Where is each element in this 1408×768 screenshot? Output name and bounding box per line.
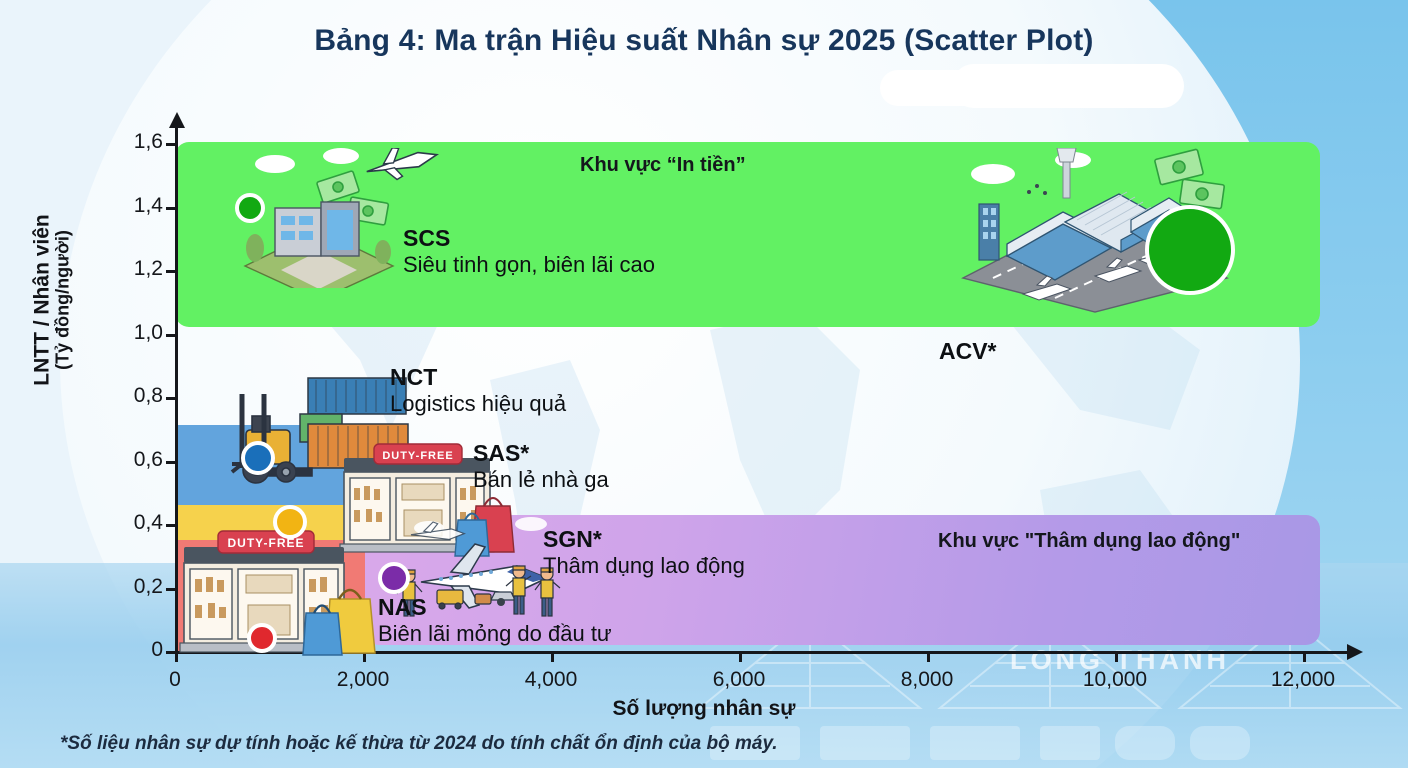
y-tick-label-0: 0	[93, 638, 163, 662]
x-tick-label-6: 12,000	[1243, 668, 1363, 692]
data-point-nct[interactable]	[241, 441, 275, 475]
y-tick-5	[166, 334, 177, 337]
svg-text:DUTY-FREE: DUTY-FREE	[382, 450, 453, 462]
y-axis-title-sub: (Tỷ đồng/người)	[54, 214, 74, 386]
y-tick-label-5: 1,0	[93, 321, 163, 345]
x-tick-6	[1303, 651, 1306, 662]
x-tick-4	[927, 651, 930, 662]
annotation-scs-code: SCS	[403, 226, 655, 252]
y-tick-label-1: 0,2	[93, 575, 163, 599]
data-point-acv[interactable]	[1145, 205, 1235, 295]
y-tick-8	[166, 143, 177, 146]
data-point-scs[interactable]	[235, 193, 265, 223]
annotation-sgn-code: SGN*	[543, 527, 745, 553]
y-tick-label-2: 0,4	[93, 511, 163, 535]
x-tick-label-5: 10,000	[1055, 668, 1175, 692]
annotation-scs: SCS Siêu tinh gọn, biên lãi cao	[403, 226, 655, 277]
chart-title: Bảng 4: Ma trận Hiệu suất Nhân sự 2025 (…	[0, 24, 1408, 58]
y-tick-label-3: 0,6	[93, 448, 163, 472]
y-axis-title: LNTT / Nhân viên (Tỷ đồng/người)	[31, 214, 74, 386]
annotation-nas-desc: Biên lãi mỏng do đầu tư	[378, 621, 612, 646]
annotation-sas: SAS* Bán lẻ nhà ga	[473, 441, 609, 492]
x-tick-label-3: 6,000	[679, 668, 799, 692]
y-tick-7	[166, 207, 177, 210]
x-tick-label-0: 0	[115, 668, 235, 692]
nas-duty-free-shop-bags-illustration: DUTY-FREE	[170, 521, 390, 661]
annotation-nas: NAS Biên lãi mỏng do đầu tư	[378, 595, 612, 646]
y-tick-label-4: 0,8	[93, 384, 163, 408]
y-tick-label-6: 1,2	[93, 257, 163, 281]
data-point-nas[interactable]	[247, 623, 277, 653]
annotation-nas-code: NAS	[378, 595, 612, 621]
zone-label-labor-intensive: Khu vực "Thâm dụng lao động"	[938, 530, 1240, 553]
data-point-sgn[interactable]	[378, 562, 410, 594]
y-tick-label-8: 1,6	[93, 130, 163, 154]
annotation-nct-code: NCT	[390, 365, 566, 391]
chart-footnote: *Số liệu nhân sự dự tính hoặc kế thừa từ…	[60, 733, 778, 755]
x-axis-title: Số lượng nhân sự	[0, 697, 1408, 721]
cloud-shape-primary	[952, 64, 1184, 108]
scatter-plot-area: Khu vực “In tiền” Khu vực "Thâm dụng lao…	[175, 126, 1345, 654]
y-tick-label-7: 1,4	[93, 194, 163, 218]
x-tick-label-4: 8,000	[867, 668, 987, 692]
annotation-sgn-desc: Thâm dụng lao động	[543, 553, 745, 578]
x-tick-label-1: 2,000	[303, 668, 423, 692]
x-tick-2	[551, 651, 554, 662]
zone-label-money-printing: Khu vực “In tiền”	[580, 154, 746, 177]
annotation-sgn: SGN* Thâm dụng lao động	[543, 527, 745, 578]
annotation-sas-desc: Bán lẻ nhà ga	[473, 467, 609, 492]
y-tick-6	[166, 270, 177, 273]
x-tick-5	[1115, 651, 1118, 662]
annotation-scs-desc: Siêu tinh gọn, biên lãi cao	[403, 252, 655, 277]
x-tick-label-2: 4,000	[491, 668, 611, 692]
x-tick-3	[739, 651, 742, 662]
annotation-acv: ACV*	[939, 339, 997, 365]
annotation-nct: NCT Logistics hiệu quả	[390, 365, 566, 416]
annotation-acv-code: ACV*	[939, 339, 997, 365]
y-tick-4	[166, 397, 177, 400]
annotation-nct-desc: Logistics hiệu quả	[390, 391, 566, 416]
y-tick-3	[166, 461, 177, 464]
y-axis-title-main: LNTT / Nhân viên	[31, 214, 54, 386]
y-axis-arrow-icon	[169, 112, 185, 128]
annotation-sas-code: SAS*	[473, 441, 609, 467]
x-axis-arrow-icon	[1347, 644, 1363, 660]
data-point-sas[interactable]	[273, 505, 307, 539]
